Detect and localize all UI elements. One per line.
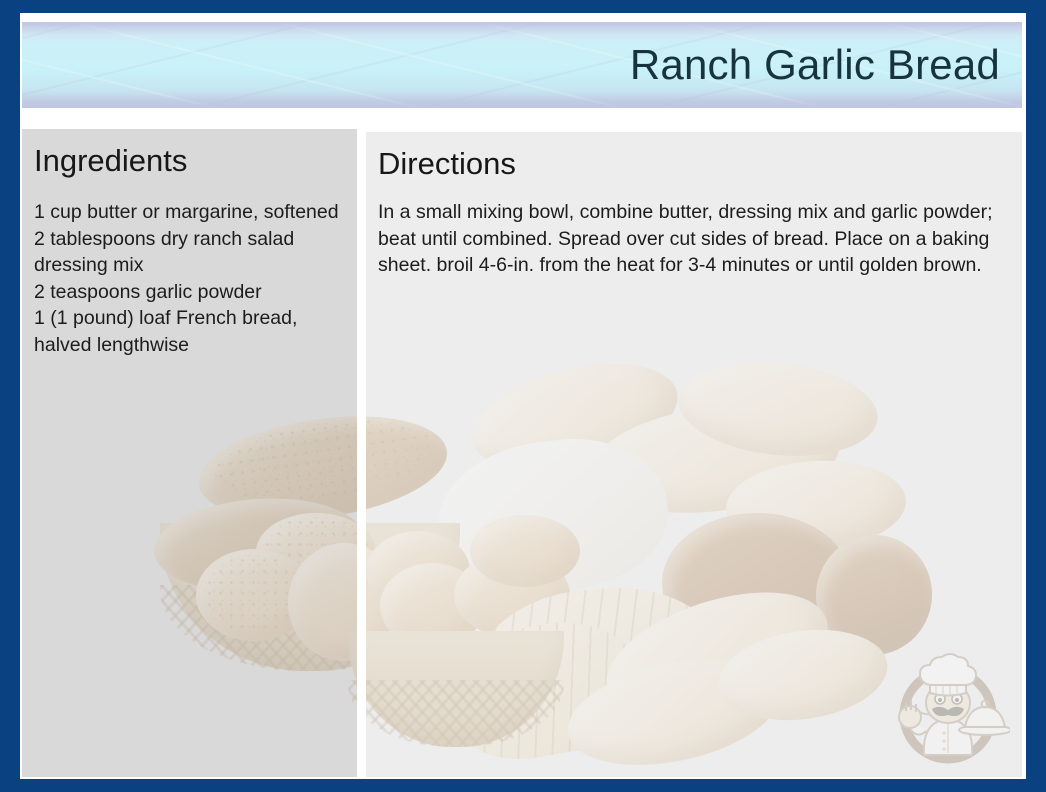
section-tab-ingredients: Ingredients xyxy=(22,138,208,183)
ingredients-heading: Ingredients xyxy=(34,143,187,179)
panel-gutter xyxy=(357,129,366,777)
recipe-card-inner: Ranch Garlic Bread xyxy=(20,13,1026,779)
ingredients-list: 1 cup butter or margarine, softened 2 ta… xyxy=(34,199,346,358)
page-title: Ranch Garlic Bread xyxy=(630,41,1000,89)
directions-body: In a small mixing bowl, combine butter, … xyxy=(378,199,1024,279)
header-banner: Ranch Garlic Bread xyxy=(22,22,1022,108)
chef-mascot-logo xyxy=(886,645,1010,769)
section-tab-directions: Directions xyxy=(366,141,531,186)
recipe-card: Ranch Garlic Bread xyxy=(0,0,1046,792)
directions-heading: Directions xyxy=(378,146,516,182)
